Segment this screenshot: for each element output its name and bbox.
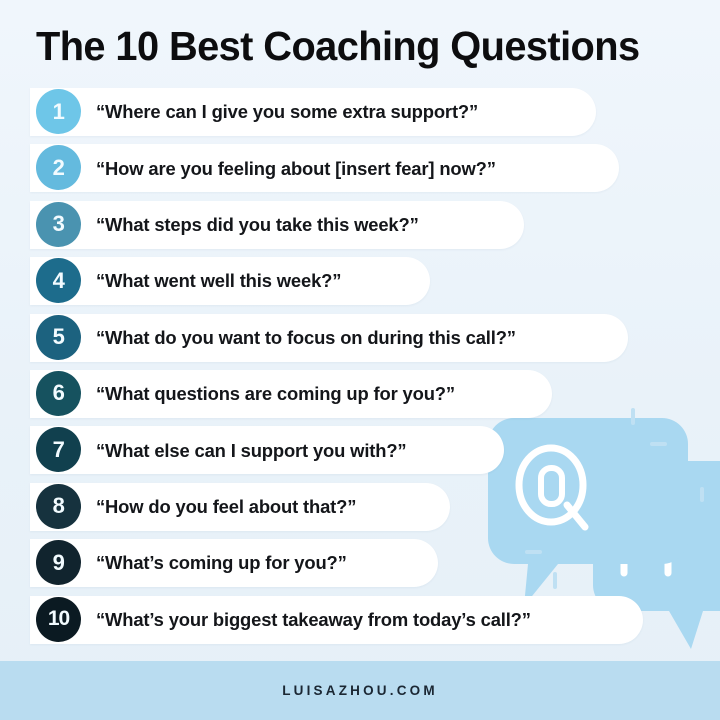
page-title: The 10 Best Coaching Questions [36,20,640,72]
question-text: “How are you feeling about [insert fear]… [96,140,496,196]
questions-list: 1 “Where can I give you some extra suppo… [0,84,720,648]
question-text: “What’s your biggest takeaway from today… [96,592,531,648]
question-number-badge: 4 [36,258,81,303]
question-text: “What else can I support you with?” [96,422,406,478]
list-item[interactable]: 8 “How do you feel about that?” [0,479,720,535]
brand-url[interactable]: LUISAZHOU.COM [282,683,438,698]
infographic-poster: The 10 Best Coaching Questions 1 “Where … [0,0,720,720]
list-item[interactable]: 7 “What else can I support you with?” [0,422,720,478]
question-number-badge: 6 [36,371,81,416]
question-number-badge: 8 [36,484,81,529]
question-text: “Where can I give you some extra support… [96,84,478,140]
question-text: “What do you want to focus on during thi… [96,310,516,366]
question-text: “What steps did you take this week?” [96,197,419,253]
list-item[interactable]: 9 “What’s coming up for you?” [0,535,720,591]
question-number-badge: 5 [36,315,81,360]
list-item[interactable]: 10 “What’s your biggest takeaway from to… [0,592,720,648]
question-text: “What’s coming up for you?” [96,535,347,591]
footer-band: LUISAZHOU.COM [0,661,720,720]
list-item[interactable]: 6 “What questions are coming up for you?… [0,366,720,422]
list-item[interactable]: 4 “What went well this week?” [0,253,720,309]
question-text: “What questions are coming up for you?” [96,366,455,422]
list-item[interactable]: 5 “What do you want to focus on during t… [0,310,720,366]
question-number-badge: 10 [36,597,81,642]
list-item[interactable]: 3 “What steps did you take this week?” [0,197,720,253]
question-number-badge: 9 [36,540,81,585]
question-number-badge: 1 [36,89,81,134]
list-item[interactable]: 2 “How are you feeling about [insert fea… [0,140,720,196]
list-item[interactable]: 1 “Where can I give you some extra suppo… [0,84,720,140]
question-number-badge: 3 [36,202,81,247]
question-text: “What went well this week?” [96,253,341,309]
question-text: “How do you feel about that?” [96,479,356,535]
